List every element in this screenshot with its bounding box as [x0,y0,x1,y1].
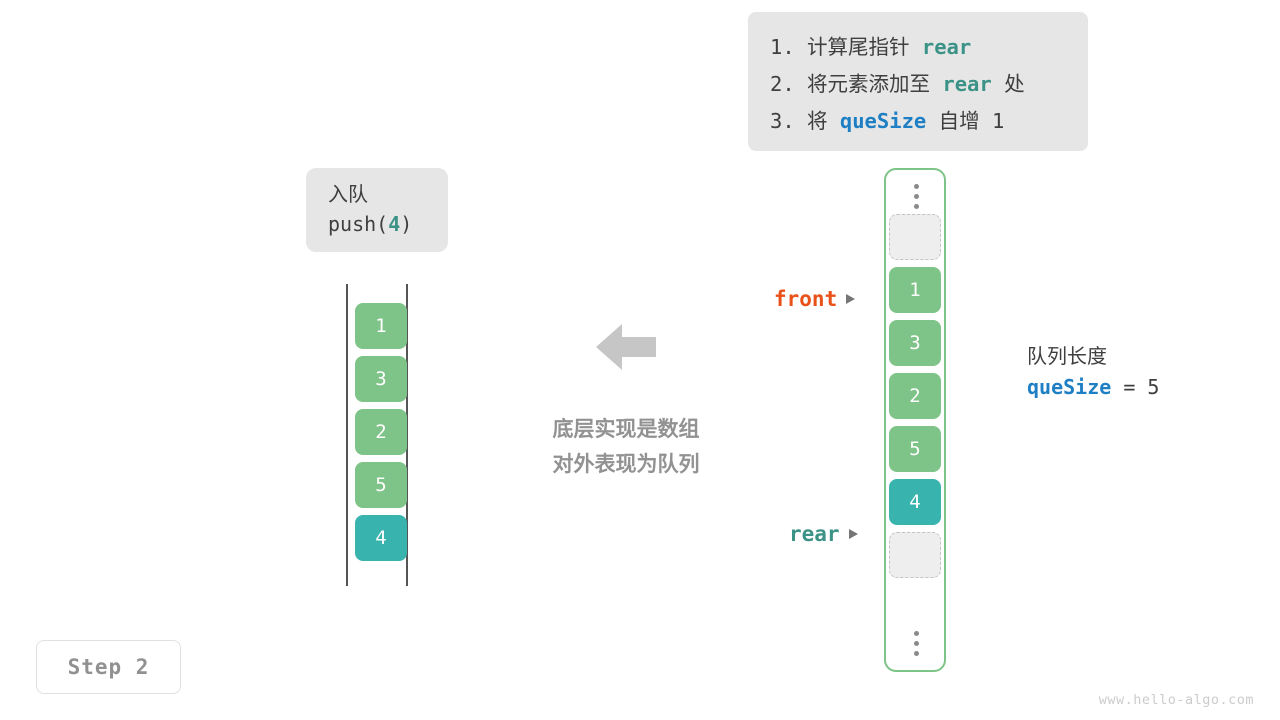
operation-call-prefix: push( [328,212,388,236]
queue-cell-empty [889,532,941,578]
front-pointer-label: front [774,287,855,311]
instruction-line-3: 3. 将 queSize 自增 1 [770,103,1088,140]
operation-title: 入队 [328,180,448,209]
instruction-line-3-keyword: queSize [840,109,926,133]
rear-pointer-text: rear [789,522,840,546]
rear-pointer-arrow-icon [849,529,858,539]
queue-cell-new: 4 [889,479,941,525]
instruction-callout: 1. 计算尾指针 rear 2. 将元素添加至 rear 处 3. 将 queS… [748,12,1088,151]
queue-size-variable: queSize [1027,375,1111,399]
step-badge: Step 2 [36,640,181,694]
ellipsis-dots-top-icon [914,184,919,209]
rear-pointer-label: rear [789,522,858,546]
array-cell: 5 [355,462,407,508]
instruction-line-1-keyword: rear [922,35,971,59]
queue-size-label: 队列长度 [1027,341,1159,371]
queue-representation: 1 3 2 5 4 [884,168,946,672]
watermark: www.hello-algo.com [1099,692,1254,708]
instruction-line-3-suffix: 自增 1 [926,109,1004,133]
array-cell: 1 [355,303,407,349]
instruction-line-3-prefix: 3. 将 [770,109,840,133]
queue-size-equals: = [1111,375,1147,399]
queue-cell: 5 [889,426,941,472]
array-cell-column: 1 3 2 5 4 [355,303,407,568]
operation-callout: 入队 push(4) [306,168,448,252]
array-cell: 3 [355,356,407,402]
explanation-caption: 底层实现是数组 对外表现为队列 [530,412,722,482]
front-pointer-text: front [774,287,837,311]
array-cell: 2 [355,409,407,455]
ellipsis-dots-bottom-icon [914,631,919,656]
queue-size-value: 5 [1147,375,1159,399]
instruction-line-2: 2. 将元素添加至 rear 处 [770,66,1088,103]
instruction-line-2-prefix: 2. 将元素添加至 [770,72,942,96]
queue-size-expression: queSize = 5 [1027,371,1159,403]
instruction-line-1-prefix: 1. 计算尾指针 [770,35,922,59]
queue-cell-empty [889,214,941,260]
queue-cell: 1 [889,267,941,313]
explanation-caption-line-2: 对外表现为队列 [530,447,722,482]
operation-call-suffix: ) [400,212,412,236]
array-representation: 1 3 2 5 4 [346,284,408,586]
operation-call-argument: 4 [388,212,400,236]
front-pointer-arrow-icon [846,294,855,304]
queue-size-note: 队列长度 queSize = 5 [1027,341,1159,403]
instruction-line-1: 1. 计算尾指针 rear [770,29,1088,66]
array-bracket-left [346,284,348,586]
left-arrow-icon [596,322,656,372]
operation-call: push(4) [328,209,448,240]
instruction-line-2-keyword: rear [942,72,991,96]
instruction-line-2-suffix: 处 [992,72,1025,96]
queue-cell-column: 1 3 2 5 4 [889,214,941,585]
queue-cell: 2 [889,373,941,419]
array-cell-new: 4 [355,515,407,561]
queue-cell: 3 [889,320,941,366]
explanation-caption-line-1: 底层实现是数组 [530,412,722,447]
